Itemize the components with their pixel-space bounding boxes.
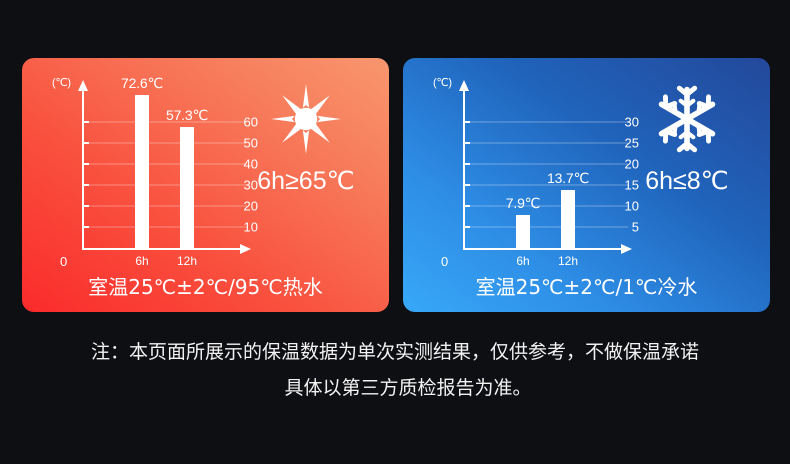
chart-hot-water: (℃) 0102030405060 72.6℃57.3℃ 6h12h bbox=[38, 76, 258, 266]
x-tick-label: 12h bbox=[558, 254, 578, 268]
bar-value-label: 72.6℃ bbox=[121, 75, 163, 92]
cold-caption: 室温25℃±2℃/1℃冷水 bbox=[403, 271, 770, 300]
hot-caption: 室温25℃±2℃/95℃热水 bbox=[22, 271, 389, 300]
panel-cold-water: (℃) 051015202530 7.9℃13.7℃ 6h12h bbox=[403, 58, 770, 312]
x-tick-label: 6h bbox=[516, 254, 529, 268]
y-axis-unit-label: (℃) bbox=[433, 76, 452, 89]
footer-note-line-1: 注：本页面所展示的保温数据为单次实测结果，仅供参考，不做保温承诺 bbox=[0, 334, 790, 370]
snowflake-icon bbox=[652, 84, 722, 154]
chart-cold-water: (℃) 051015202530 7.9℃13.7℃ 6h12h bbox=[419, 76, 639, 266]
bars-area: 72.6℃57.3℃ bbox=[82, 88, 242, 248]
cold-summary: 6h≤8℃ bbox=[612, 84, 762, 196]
panel-hot-water: (℃) 0102030405060 72.6℃57.3℃ 6h12h bbox=[22, 58, 389, 312]
x-tick-label: 6h bbox=[135, 254, 148, 268]
bar-12h bbox=[180, 127, 194, 248]
bar-6h bbox=[135, 95, 149, 248]
sun-icon bbox=[271, 84, 341, 154]
bars-area: 7.9℃13.7℃ bbox=[463, 88, 623, 248]
y-tick-label-zero: 0 bbox=[60, 254, 67, 269]
x-axis-line bbox=[463, 248, 623, 250]
bar-value-label: 13.7℃ bbox=[547, 170, 589, 187]
x-tick-label: 12h bbox=[177, 254, 197, 268]
cold-headline: 6h≤8℃ bbox=[612, 166, 762, 196]
y-tick-label-zero: 0 bbox=[441, 254, 448, 269]
y-axis-unit-label: (℃) bbox=[52, 76, 71, 89]
bar-value-label: 7.9℃ bbox=[506, 195, 540, 212]
bar-6h bbox=[516, 215, 530, 248]
hot-headline: 6h≥65℃ bbox=[231, 166, 381, 196]
x-axis-line bbox=[82, 248, 242, 250]
footer-note: 注：本页面所展示的保温数据为单次实测结果，仅供参考，不做保温承诺 具体以第三方质… bbox=[0, 334, 790, 406]
bar-12h bbox=[561, 190, 575, 248]
hot-summary: 6h≥65℃ bbox=[231, 84, 381, 196]
page-root: (℃) 0102030405060 72.6℃57.3℃ 6h12h bbox=[0, 0, 790, 464]
bar-value-label: 57.3℃ bbox=[166, 107, 208, 124]
footer-note-line-2: 具体以第三方质检报告为准。 bbox=[0, 370, 790, 406]
